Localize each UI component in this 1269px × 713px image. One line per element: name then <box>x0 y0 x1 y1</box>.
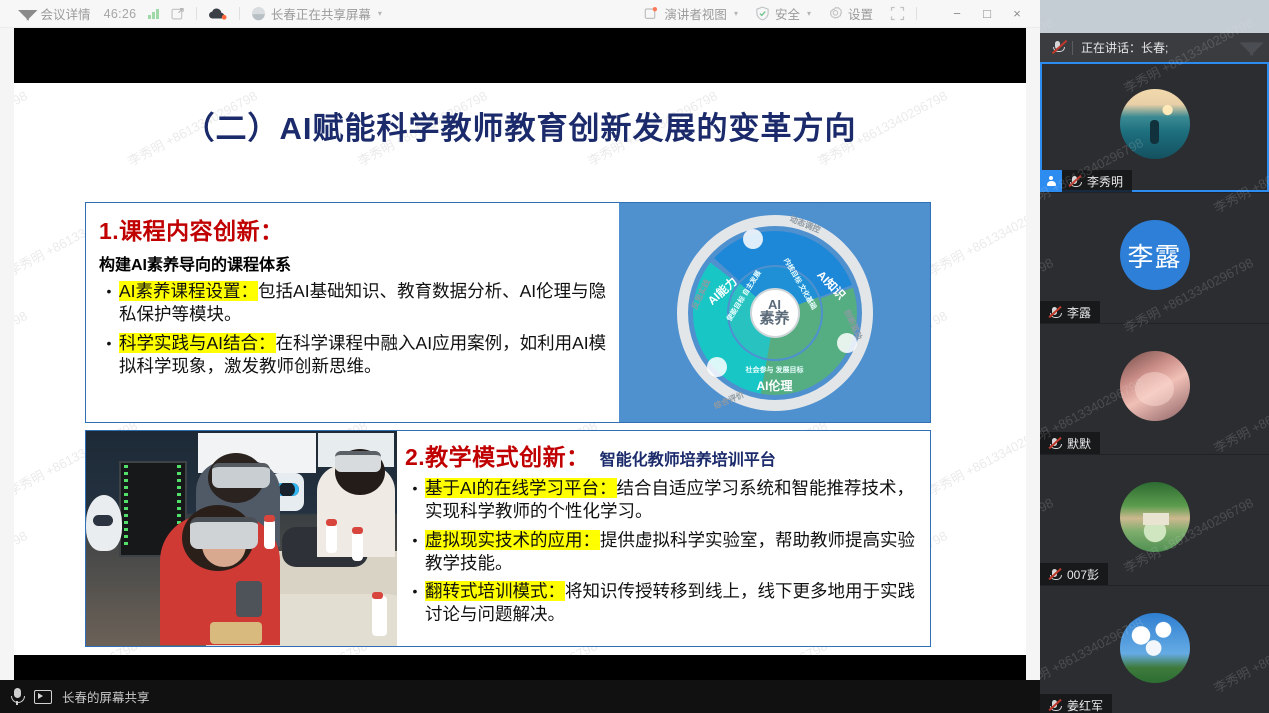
vr-classroom-photo <box>86 431 397 646</box>
signal-bars-icon[interactable] <box>148 8 159 19</box>
security-button[interactable]: 安全 ▾ <box>755 4 811 23</box>
meeting-details-button[interactable]: ◥◤ 会议详情 <box>18 4 91 23</box>
app-logo-icon: ◥◤ <box>18 7 36 21</box>
participant-tile[interactable]: 李露李露 <box>1040 193 1269 324</box>
meeting-toolbar: ◥◤ 会议详情 46:26 长春正在共享屏幕 ▾ <box>0 0 1040 28</box>
chevron-down-icon: ▾ <box>378 9 382 18</box>
panel-titlebar <box>1040 0 1269 33</box>
mute-icon <box>1048 306 1061 319</box>
box1-bullet-1-key: AI素养课程设置： <box>119 281 258 301</box>
bullet-dot-icon: • <box>99 332 119 379</box>
box1-heading: 1.课程内容创新： <box>99 212 611 246</box>
diagram-globe-icon <box>837 333 857 353</box>
settings-button[interactable]: 设置 <box>828 4 873 23</box>
box1-text-column: 1.课程内容创新： 构建AI素养导向的课程体系 • AI素养课程设置：包括AI基… <box>86 203 619 422</box>
shield-icon <box>755 6 770 21</box>
diagram-brain-icon <box>743 229 763 249</box>
gear-icon <box>828 6 843 21</box>
screen-share-label: 长春的屏幕共享 <box>62 687 150 706</box>
diagram-label-ethics: AI伦理 <box>756 377 792 394</box>
avatar: 李露 <box>1120 220 1190 290</box>
brand-logo-icon: ◥◤ <box>1239 38 1261 59</box>
box2-bullet-2-key: 虚拟现实技术的应用： <box>425 530 600 550</box>
avatar <box>1120 351 1190 421</box>
popout-window-icon[interactable] <box>171 7 185 21</box>
ai-literacy-diagram: AI 素养 AI能力 AI知识 AI伦理 反思实践 动态调控 创新驱动 综合评价… <box>677 215 873 411</box>
active-speaker-label: 正在讲话：长春; <box>1081 39 1168 56</box>
speaker-view-label: 演讲者视图 <box>664 4 727 23</box>
slide-title: （二）AI赋能科学教师教育创新发展的变革方向 <box>14 103 1026 148</box>
divider <box>1072 41 1073 55</box>
screen-share-icon[interactable] <box>34 690 52 704</box>
participant-name: 默默 <box>1067 435 1091 452</box>
participant-name: 姜红军 <box>1067 697 1103 713</box>
meeting-timer: 46:26 <box>104 7 137 21</box>
chevron-down-icon: ▾ <box>807 9 811 18</box>
diagram-core-line2: 素养 <box>759 311 789 327</box>
speaker-view-icon <box>644 6 659 21</box>
maximize-button[interactable]: □ <box>972 6 1002 21</box>
box1-subheading: 构建AI素养导向的课程体系 <box>99 251 611 275</box>
avatar <box>1120 482 1190 552</box>
box2-heading-sub: 智能化教师培养培训平台 <box>600 446 776 470</box>
close-button[interactable]: × <box>1002 6 1032 21</box>
chevron-down-icon: ▾ <box>734 9 738 18</box>
participants-panel: 正在讲话：长春; ◥◤ 李秀明李露李露默默007彭姜红军 李秀明 +861334… <box>1040 0 1269 713</box>
participant-name-chip: 007彭 <box>1040 563 1108 585</box>
box2-bullet-3: • 翻转式培训模式：将知识传授转移到线上，线下更多地用于实践讨论与问题解决。 <box>405 580 922 627</box>
ai-literacy-diagram-panel: AI 素养 AI能力 AI知识 AI伦理 反思实践 动态调控 创新驱动 综合评价… <box>619 203 930 422</box>
participant-name-chip: 姜红军 <box>1040 694 1112 713</box>
microphone-icon[interactable] <box>10 688 24 705</box>
participant-name: 007彭 <box>1067 566 1099 583</box>
meeting-details-label: 会议详情 <box>41 4 91 23</box>
mute-icon <box>1048 437 1061 450</box>
mute-icon <box>1048 699 1061 712</box>
content-box-2: 2.教学模式创新： 智能化教师培养培训平台 • 基于AI的在线学习平台：结合自适… <box>85 430 931 647</box>
letterbox-bottom <box>14 655 1026 680</box>
participant-tiles: 李秀明李露李露默默007彭姜红军 <box>1040 62 1269 713</box>
participant-name: 李秀明 <box>1087 173 1123 190</box>
fullscreen-button[interactable] <box>890 6 905 21</box>
screen-share-status-icon <box>251 6 266 21</box>
avatar <box>1120 89 1190 159</box>
participant-name-chip: 默默 <box>1040 432 1100 454</box>
speaker-view-button[interactable]: 演讲者视图 ▾ <box>644 4 738 23</box>
sharer-status[interactable]: 长春正在共享屏幕 ▾ <box>251 4 382 23</box>
mute-icon <box>1048 568 1061 581</box>
participant-tile[interactable]: 007彭 <box>1040 455 1269 586</box>
shared-screen-stage[interactable]: 李秀明 +8613340296798李秀明 +8613340296798李秀明 … <box>0 28 1040 680</box>
participant-tile[interactable]: 姜红军 <box>1040 586 1269 713</box>
bullet-dot-icon: • <box>405 529 425 576</box>
host-badge-icon <box>1040 170 1062 192</box>
box1-bullet-1: • AI素养课程设置：包括AI基础知识、教育数据分析、AI伦理与隐私保护等模块。 <box>99 280 611 327</box>
box1-bullet-2-key: 科学实践与AI结合： <box>119 333 276 353</box>
content-box-1: 1.课程内容创新： 构建AI素养导向的课程体系 • AI素养课程设置：包括AI基… <box>85 202 931 423</box>
avatar <box>1120 613 1190 683</box>
bullet-dot-icon: • <box>405 477 425 524</box>
letterbox-top <box>14 28 1026 83</box>
app-root: ◥◤ 会议详情 46:26 长春正在共享屏幕 ▾ <box>0 0 1269 713</box>
presentation-slide: 李秀明 +8613340296798李秀明 +8613340296798李秀明 … <box>14 83 1026 655</box>
minimize-button[interactable]: − <box>942 6 972 21</box>
diagram-gear-icon <box>707 357 727 377</box>
diagram-core: AI 素养 <box>750 288 800 338</box>
box2-heading: 2.教学模式创新： <box>405 438 590 472</box>
diagram-inner-label-3: 社会参与 发展目标 <box>746 365 804 375</box>
participant-tile[interactable]: 李秀明 <box>1040 62 1269 193</box>
bullet-dot-icon: • <box>405 580 425 627</box>
participant-name-chip: 李露 <box>1040 301 1100 323</box>
box2-bullet-1: • 基于AI的在线学习平台：结合自适应学习系统和智能推荐技术，实现科学教师的个性… <box>405 477 922 524</box>
security-label: 安全 <box>775 4 800 23</box>
settings-label: 设置 <box>848 4 873 23</box>
screen-share-footer: 长春的屏幕共享 <box>0 680 1040 713</box>
sharer-status-label: 长春正在共享屏幕 <box>271 4 371 23</box>
box2-bullet-3-key: 翻转式培训模式： <box>425 581 565 601</box>
active-speaker-bar: 正在讲话：长春; <box>1040 33 1269 62</box>
participant-name: 李露 <box>1067 304 1091 321</box>
box2-bullet-2: • 虚拟现实技术的应用：提供虚拟科学实验室，帮助教师提高实验教学技能。 <box>405 529 922 576</box>
box1-bullet-2: • 科学实践与AI结合：在科学课程中融入AI应用案例，如利用AI模拟科学现象，激… <box>99 332 611 379</box>
mute-icon <box>1051 40 1064 55</box>
box2-text-column: 2.教学模式创新： 智能化教师培养培训平台 • 基于AI的在线学习平台：结合自适… <box>397 431 930 646</box>
mute-icon <box>1068 175 1081 188</box>
fullscreen-icon <box>890 6 905 21</box>
participant-tile[interactable]: 默默 <box>1040 324 1269 455</box>
cloud-record-icon[interactable] <box>208 7 228 21</box>
bullet-dot-icon: • <box>99 280 119 327</box>
box2-bullet-1-key: 基于AI的在线学习平台： <box>425 478 617 498</box>
